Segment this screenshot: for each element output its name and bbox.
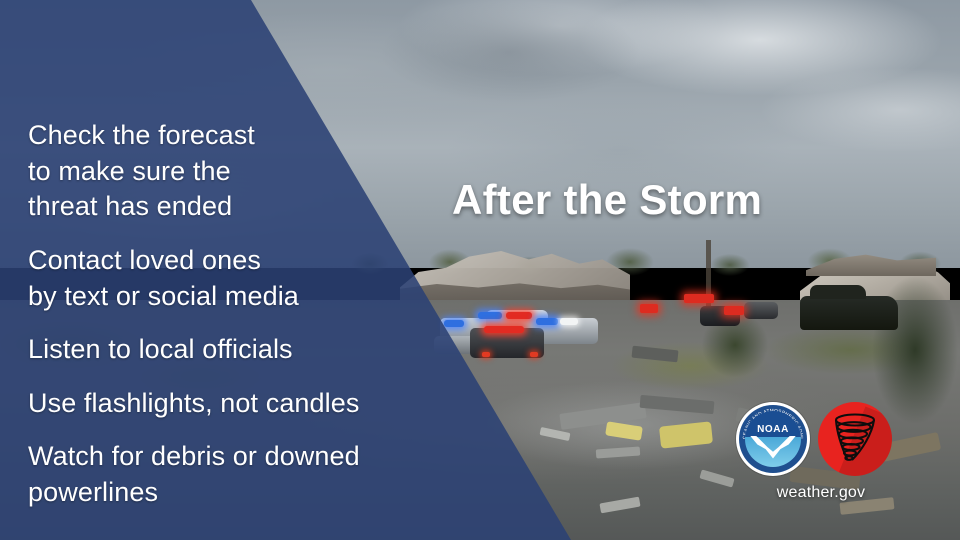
weather-gov-label: weather.gov (736, 484, 906, 502)
police-lightbar-red-left (506, 312, 532, 319)
tornado-icon (818, 402, 892, 476)
noaa-seagull-icon (750, 436, 796, 462)
dark-suv (800, 296, 898, 330)
taillight-right (530, 352, 538, 357)
list-item: Check the forecastto make sure thethreat… (28, 118, 448, 225)
ems-light-b (640, 304, 658, 313)
taillight-left (482, 352, 490, 357)
safety-tips-list: Check the forecastto make sure thethreat… (28, 118, 448, 511)
page-title: After the Storm (452, 176, 762, 224)
list-item: Use flashlights, not candles (28, 386, 448, 422)
noaa-logo-icon: NATIONAL OCEANIC AND ATMOSPHERIC ADMINIS… (736, 402, 810, 476)
emergency-vehicles-distant (640, 292, 770, 318)
slide-canvas: After the Storm Check the forecastto mak… (0, 0, 960, 540)
police-lightbar-blue-right (536, 318, 558, 325)
dark-cloud-mass (340, 0, 680, 130)
branding-block: NATIONAL OCEANIC AND ATMOSPHERIC ADMINIS… (736, 402, 906, 478)
police-lightbar-red-front (484, 326, 524, 333)
list-item: Contact loved onesby text or social medi… (28, 243, 448, 314)
list-item: Watch for debris or downedpowerlines (28, 439, 448, 510)
ems-light-c (724, 306, 744, 315)
police-lightbar-white (560, 318, 578, 325)
noaa-wordmark: NOAA (745, 424, 801, 435)
ems-light-a (684, 294, 714, 303)
police-lightbar-blue-left (478, 312, 502, 319)
noaa-inner-disc: NOAA (745, 411, 801, 467)
list-item: Listen to local officials (28, 332, 448, 368)
